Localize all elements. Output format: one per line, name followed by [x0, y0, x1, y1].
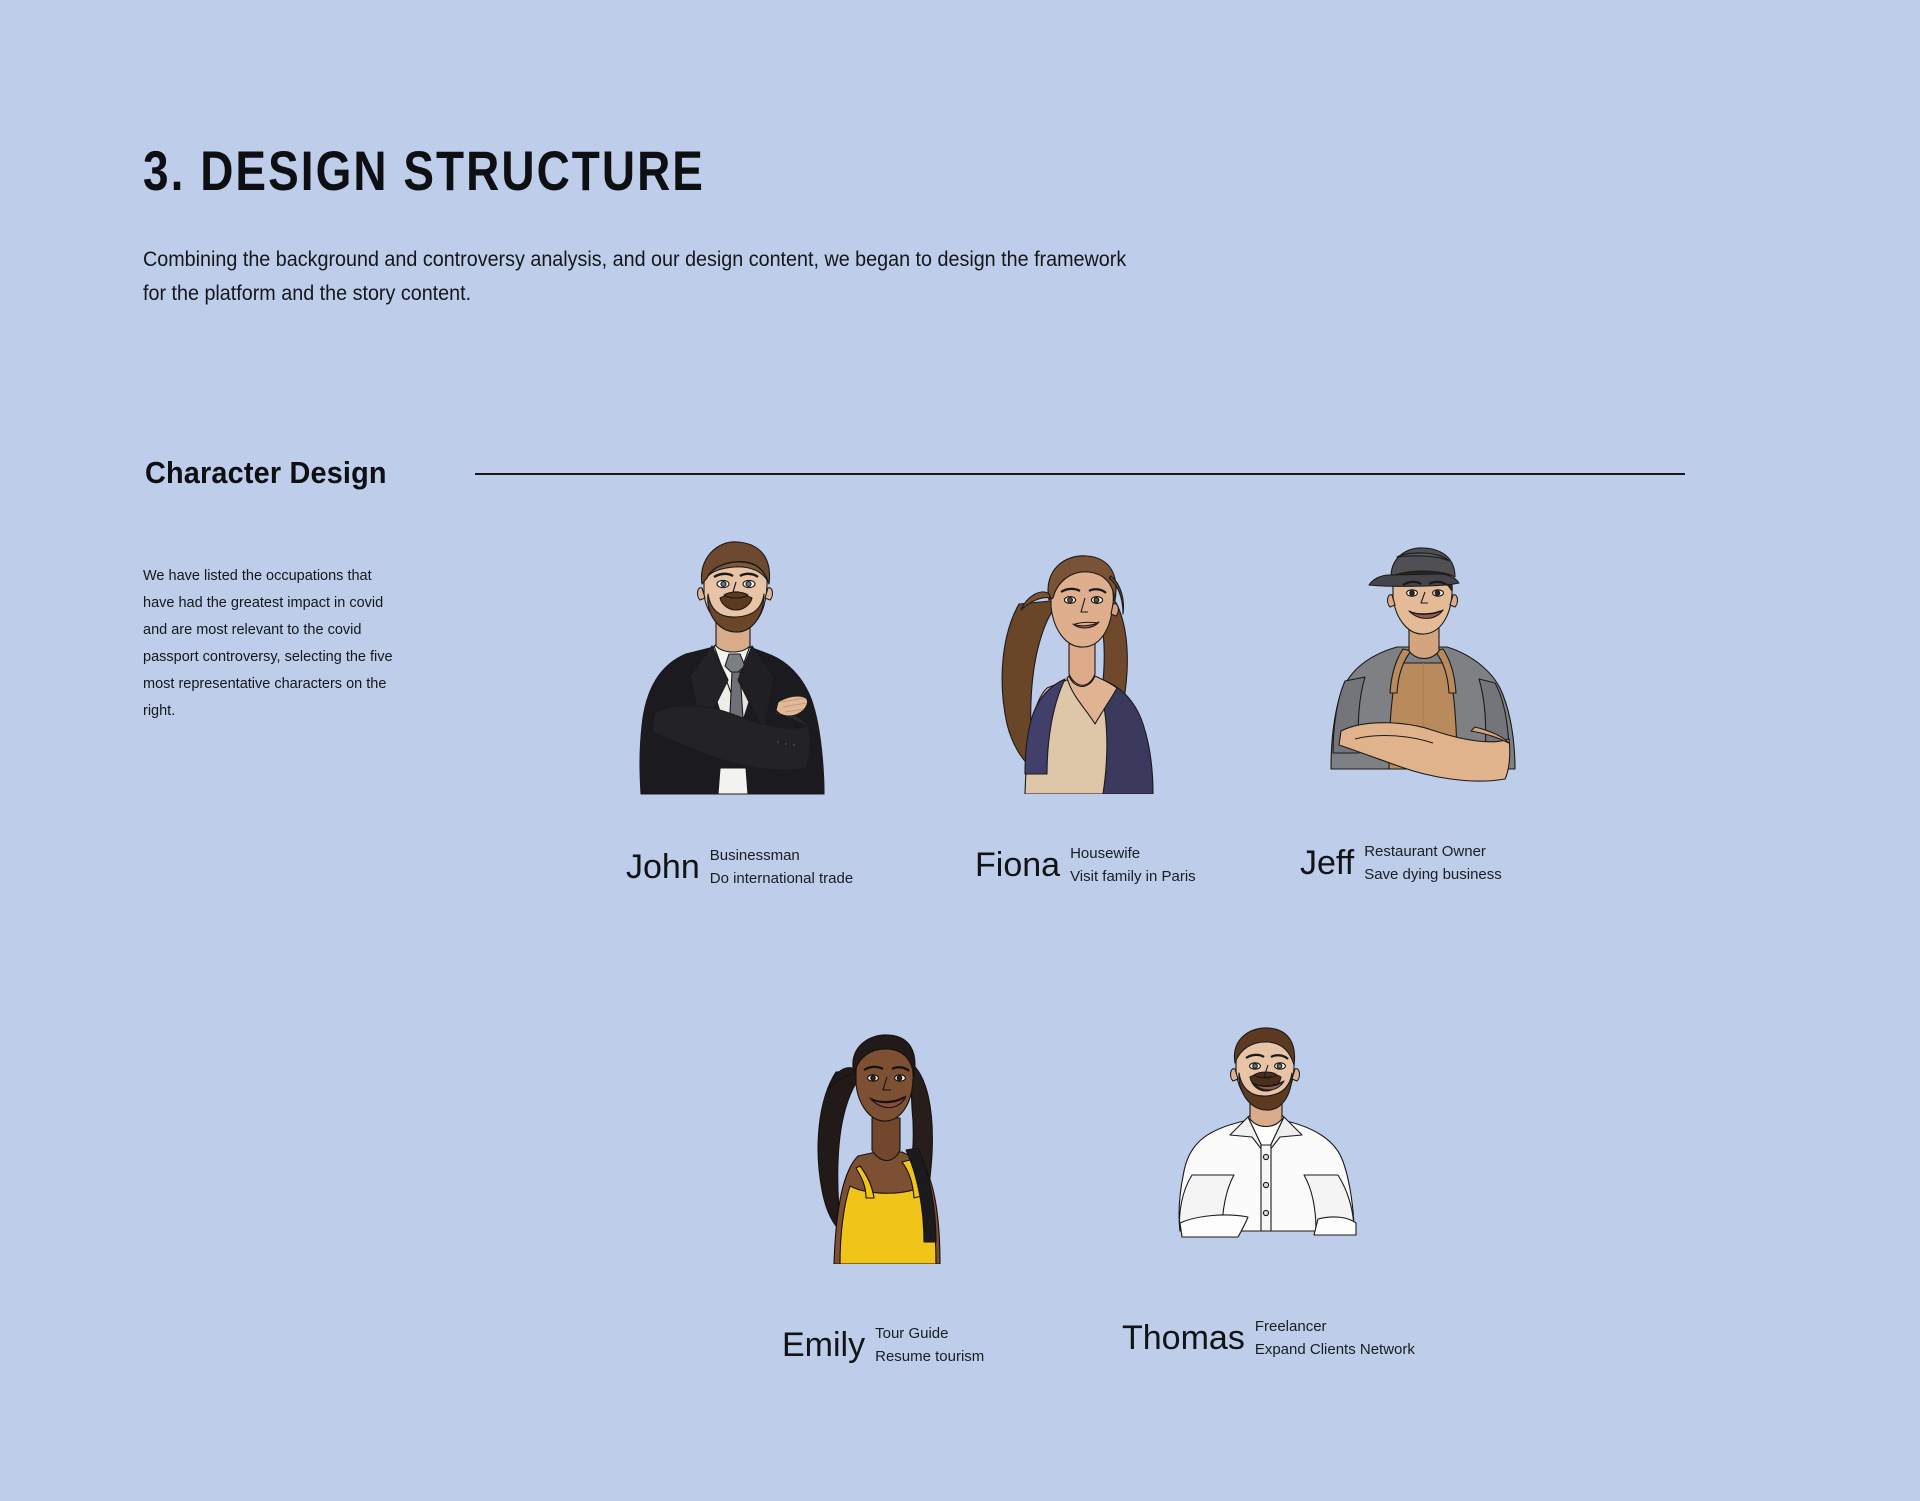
character-role: Restaurant Owner [1364, 844, 1502, 860]
character-illustration-jeff [1325, 543, 1520, 791]
character-illustration-john [628, 536, 838, 796]
character-name: Thomas [1122, 1321, 1245, 1355]
section-title: Character Design [145, 455, 452, 491]
character-meta: Businessman Do international trade [710, 847, 853, 887]
fiona-figure [985, 548, 1175, 794]
character-meta: Restaurant Owner Save dying business [1364, 843, 1502, 883]
page-title: 3. DESIGN STRUCTURE [143, 138, 705, 203]
character-label-john: John Businessman Do international trade [626, 847, 853, 887]
jeff-figure [1325, 543, 1520, 791]
character-goal: Save dying business [1364, 867, 1502, 883]
character-label-thomas: Thomas Freelancer Expand Clients Network [1122, 1318, 1415, 1358]
character-name: Fiona [975, 848, 1060, 882]
character-name: Emily [782, 1328, 865, 1362]
character-role: Housewife [1070, 846, 1196, 862]
character-goal: Resume tourism [875, 1349, 984, 1365]
character-role: Businessman [710, 848, 853, 864]
character-label-fiona: Fiona Housewife Visit family in Paris [975, 845, 1196, 885]
john-figure [628, 536, 838, 796]
character-goal: Visit family in Paris [1070, 869, 1196, 885]
character-illustration-fiona [985, 548, 1175, 794]
character-illustration-emily [806, 1028, 966, 1264]
character-label-jeff: Jeff Restaurant Owner Save dying busines… [1300, 843, 1502, 883]
character-meta: Tour Guide Resume tourism [875, 1325, 984, 1365]
character-role: Tour Guide [875, 1326, 984, 1342]
character-label-emily: Emily Tour Guide Resume tourism [782, 1325, 984, 1365]
character-goal: Do international trade [710, 871, 853, 887]
section-header: Character Design [145, 455, 1685, 491]
character-role: Freelancer [1255, 1319, 1415, 1335]
section-note: We have listed the occupations that have… [143, 563, 401, 725]
character-meta: Freelancer Expand Clients Network [1255, 1318, 1415, 1358]
character-goal: Expand Clients Network [1255, 1342, 1415, 1358]
section-divider [475, 473, 1685, 475]
character-illustration-thomas [1148, 1025, 1383, 1257]
intro-paragraph: Combining the background and controversy… [143, 243, 1139, 311]
character-meta: Housewife Visit family in Paris [1070, 845, 1196, 885]
thomas-figure [1148, 1025, 1383, 1257]
character-name: John [626, 850, 700, 884]
character-name: Jeff [1300, 846, 1354, 880]
emily-figure [806, 1028, 966, 1264]
